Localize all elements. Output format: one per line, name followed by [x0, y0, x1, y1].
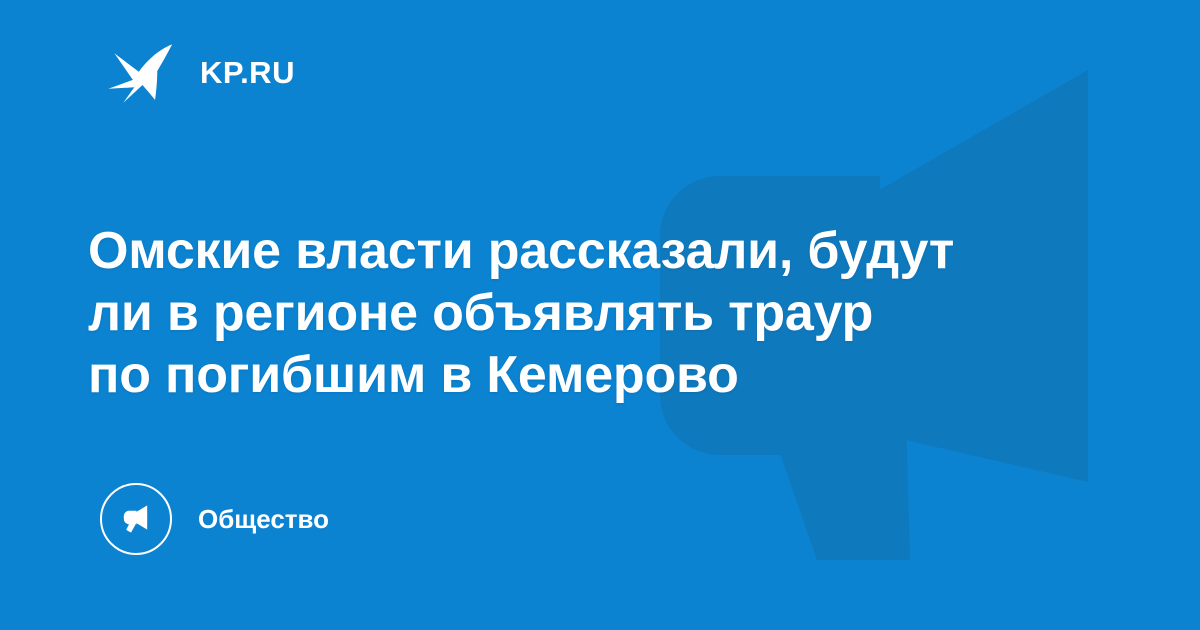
rubric-label: Общество	[198, 506, 329, 532]
headline-line-2: ли в регионе объявлять траур	[88, 282, 1088, 344]
headline-line-1: Омские власти рассказали, будут	[88, 220, 1088, 282]
site-wordmark: KP.RU	[200, 55, 295, 88]
site-logo[interactable]: KP.RU	[104, 34, 295, 108]
rubric[interactable]: Общество	[100, 483, 329, 555]
rubric-badge	[100, 483, 172, 555]
swallow-bird-icon	[104, 34, 178, 108]
article-share-card: KP.RU Омские власти рассказали, будут ли…	[0, 0, 1200, 630]
page-title: Омские власти рассказали, будут ли в рег…	[88, 220, 1088, 406]
headline-line-3: по погибшим в Кемерово	[88, 344, 1088, 406]
megaphone-icon	[116, 499, 156, 539]
